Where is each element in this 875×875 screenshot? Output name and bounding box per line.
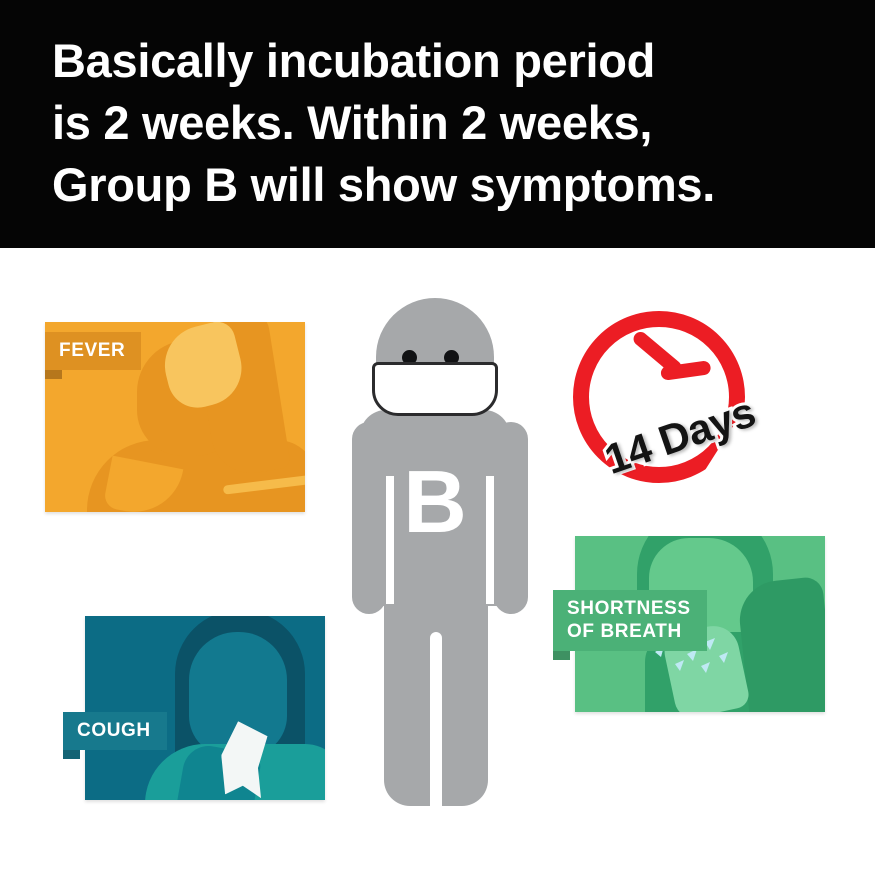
breath-figure-shoulder: [736, 576, 825, 712]
header-banner: Basically incubation period is 2 weeks. …: [0, 0, 875, 248]
person-leg-gap: [430, 632, 442, 806]
group-letter: B: [360, 458, 510, 546]
header-text: Basically incubation period is 2 weeks. …: [52, 30, 842, 216]
clock-badge: 14 Days: [565, 305, 765, 497]
symptom-label-shortness-of-breath: SHORTNESS OF BREATH: [553, 590, 707, 651]
person-pictogram-group-b: B: [340, 298, 540, 806]
cough-illustration: [85, 616, 325, 800]
face-mask-icon: [372, 362, 498, 416]
symptom-panel-cough: [85, 616, 325, 800]
symptom-label-cough: COUGH: [63, 712, 167, 750]
covid-incubation-infographic: Basically incubation period is 2 weeks. …: [0, 0, 875, 875]
symptom-label-fever: FEVER: [45, 332, 141, 370]
